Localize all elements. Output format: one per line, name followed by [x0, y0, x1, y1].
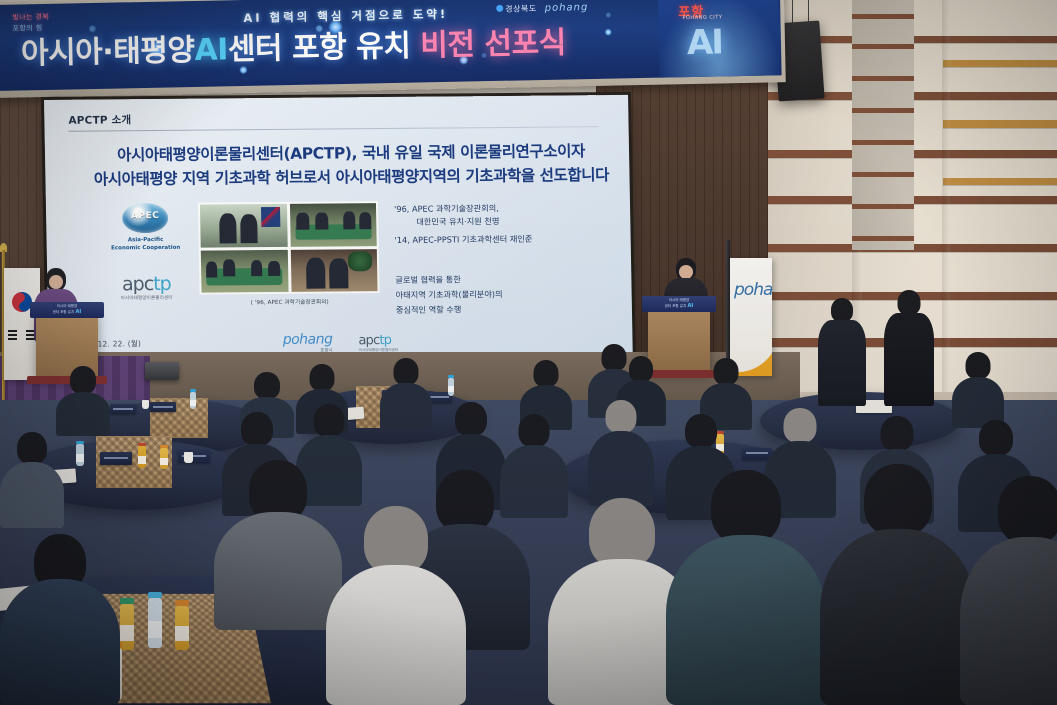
slide-logo-column: Asia-Pacific Economic Cooperation apctp … [101, 203, 191, 301]
name-card [150, 402, 176, 412]
slide-heading-line2: 아시아태평양 지역 기초과학 허브로서 아시아태평양지역의 기초과학을 선도합니… [91, 163, 611, 192]
bullet-item-2: '14, APEC-PPSTI 기초과학센터 재인준 [395, 232, 605, 247]
photo-handshake-1 [200, 204, 287, 247]
attendee-foreground [666, 470, 826, 705]
slide-paragraph: 글로벌 협력을 통한 아태지역 기초과학(물리분야)의 중심적인 역할 수행 [395, 271, 606, 317]
bullet-item-1: '96, APEC 과학기술장관회의, 대한민국 유치·지원 천명 [394, 201, 604, 229]
name-card [178, 450, 210, 463]
banner-org-pohang: pohang [545, 2, 589, 14]
attendee [0, 432, 64, 528]
podium-right-line1: 아시아·태평양 [669, 298, 690, 302]
slide-divider [69, 126, 599, 132]
podium-right-sign: 아시아·태평양 센터 포항 유치 AI [642, 296, 716, 312]
water-bottle [148, 598, 162, 648]
attendee-foreground [326, 506, 466, 705]
juice-bottle [138, 446, 146, 468]
water-bottle [76, 444, 84, 466]
historical-photo-grid [198, 201, 380, 295]
banner-title-part2: 센터 포항 유치 [228, 29, 411, 68]
podium-left-line2: 센터 포항 유치 [53, 310, 75, 314]
attendee-foreground [214, 460, 342, 630]
bullet-2-line1: '14, APEC-PPSTI 기초과학센터 재인준 [395, 234, 533, 245]
bullet-1-line2: 대한민국 유치·지원 천명 [394, 214, 604, 229]
podium-left-line1: 아시아·태평양 [57, 304, 78, 308]
juice-bottle [160, 448, 168, 469]
attendee [56, 366, 110, 436]
photo-meeting-2 [201, 249, 288, 292]
slide-kicker: APCTP 소개 [68, 112, 131, 128]
apec-globe-icon [122, 203, 169, 233]
projection-screen: APCTP 소개 아시아태평양이론물리센터(APCTP), 국내 유일 국제 이… [44, 95, 633, 368]
banner-art-ai: AI [687, 22, 723, 63]
name-card [100, 452, 132, 465]
podium-left-ai: AI [75, 309, 81, 315]
paper-cup [142, 400, 149, 409]
speaker-cable [792, 0, 793, 24]
apctp-korean-name: 아시아태평양이론물리센터 [121, 294, 173, 300]
conference-hall-photo: 빛나는 경북 포항의 힘 AI 협력의 핵심 거점으로 도약! 아시아·태평양A… [0, 0, 1057, 705]
attendee-foreground [960, 476, 1057, 705]
projector-unit [145, 362, 179, 380]
banner-title-part1: 아시아·태평양 [21, 33, 195, 71]
banner-art-badge-sub: POHANG CITY [682, 14, 722, 21]
banner-title-part3: 비전 선포식 [420, 26, 566, 64]
wall-slats [852, 0, 914, 250]
attendee-foreground [0, 520, 120, 705]
photo-handshake-2 [290, 249, 377, 292]
banner-org-gyeongbuk: 경상북도 [496, 3, 537, 15]
pohang-flag-text: pohang [734, 280, 772, 300]
apctp-wordmark: apctp [120, 274, 172, 293]
footer-logo-apctp: apctp 아시아태평양이론물리센터 [358, 333, 398, 353]
apec-logo: Asia-Pacific Economic Cooperation [110, 203, 180, 253]
attendee-foreground [820, 464, 976, 705]
apctp-logo: apctp 아시아태평양이론물리센터 [120, 274, 172, 300]
footer-logo-pohang: pohang 포항시 [283, 331, 333, 353]
slide-heading: 아시아태평양이론물리센터(APCTP), 국내 유일 국제 이론물리연구소이자 … [91, 139, 612, 192]
name-card [110, 404, 136, 414]
photo-caption: ( '96, APEC 과학기술장관회의) [200, 297, 380, 307]
apec-caption-line1: Asia-Pacific [128, 237, 164, 243]
water-bottle [448, 378, 454, 396]
apec-caption-line2: Economic Cooperation [111, 245, 180, 252]
attendee-standing [884, 290, 934, 406]
banner-artwork: 포항 POHANG CITY AI [658, 0, 780, 80]
paper-cup [184, 452, 193, 463]
photo-meeting-1 [289, 203, 376, 246]
podium-right-ai: AI [687, 303, 693, 309]
podium-left-sign: 아시아·태평양 센터 포항 유치 AI [30, 302, 104, 318]
attendee [380, 358, 432, 430]
water-bottle [190, 392, 196, 409]
bullet-1-line1: '96, APEC 과학기술장관회의, [394, 203, 499, 214]
podium-right-line2: 센터 포항 유치 [665, 304, 687, 308]
juice-bottle [175, 606, 189, 650]
attendee-standing [818, 298, 866, 406]
attendee [952, 352, 1004, 428]
apec-caption: Asia-Pacific Economic Cooperation [111, 236, 180, 253]
banner-title-ai: AI [194, 32, 228, 68]
slide-bullets: '96, APEC 과학기술장관회의, 대한민국 유치·지원 천명 '14, A… [394, 201, 606, 317]
paragraph-line-3: 중심적인 역할 수행 [396, 301, 606, 318]
banner-organizers: 경상북도 pohang [496, 2, 588, 15]
led-banner: 빛나는 경북 포항의 힘 AI 협력의 핵심 거점으로 도약! 아시아·태평양A… [0, 0, 786, 98]
attendee [588, 400, 654, 506]
banner-corner-line1: 빛나는 경북 [12, 13, 49, 22]
juice-bottle [120, 604, 134, 650]
slide-heading-line1: 아시아태평양이론물리센터(APCTP), 국내 유일 국제 이론물리연구소이자 [117, 142, 585, 164]
